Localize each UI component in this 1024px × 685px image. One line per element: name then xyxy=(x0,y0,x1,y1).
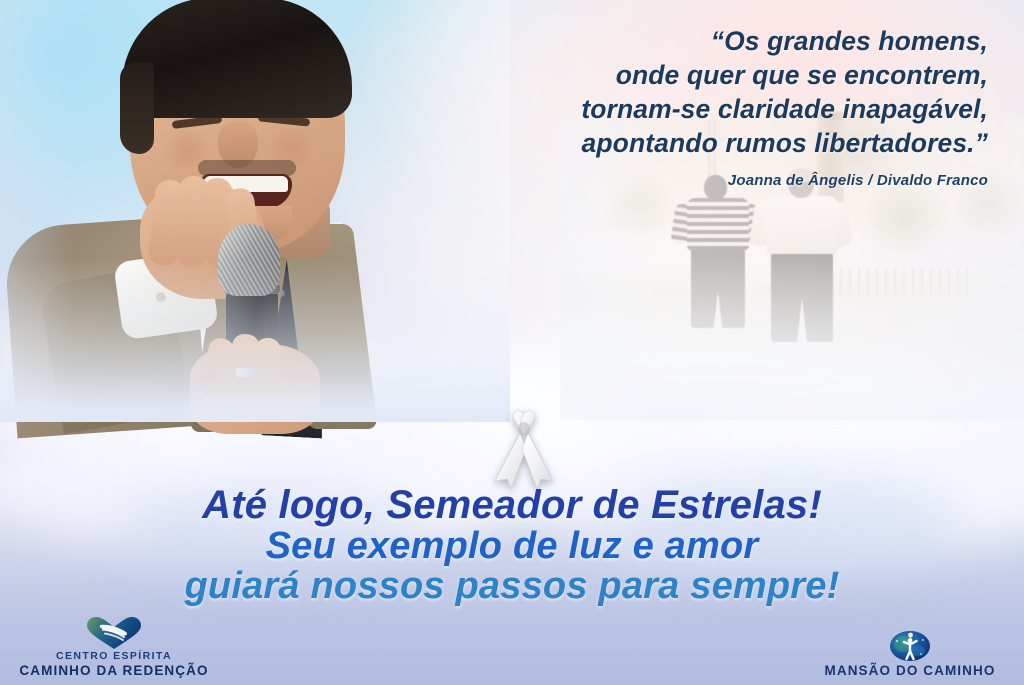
headline-line-3: guiará nossos passos para sempre! xyxy=(0,566,1024,606)
logo-centro-espirita-line-2: CAMINHO DA REDENÇÃO xyxy=(14,663,214,679)
quote-line-4: apontando rumos libertadores.” xyxy=(388,126,988,160)
quote-author: Joanna de Ângelis / Divaldo Franco xyxy=(388,172,988,189)
logo-centro-espirita[interactable]: CENTRO ESPÍRITA CAMINHO DA REDENÇÃO xyxy=(14,616,214,679)
quote-line-1: “Os grandes homens, xyxy=(388,24,988,58)
bg-photo-fade-overlay xyxy=(560,120,1024,420)
headline-line-1: Até logo, Semeador de Estrelas! xyxy=(0,484,1024,526)
tribute-poster: “Os grandes homens, onde quer que se enc… xyxy=(0,0,1024,685)
hair xyxy=(122,0,352,118)
quote-text: “Os grandes homens, onde quer que se enc… xyxy=(388,24,988,160)
headline-line-2: Seu exemplo de luz e amor xyxy=(0,526,1024,566)
logo-mansao-do-caminho[interactable]: MANSÃO DO CAMINHO xyxy=(810,629,1010,679)
headline-block: Até logo, Semeador de Estrelas! Seu exem… xyxy=(0,484,1024,606)
quote-line-2: onde quer que se encontrem, xyxy=(388,58,988,92)
heart-with-hand-icon xyxy=(14,616,214,650)
globe-with-figure-icon xyxy=(810,629,1010,663)
hair-sideburn xyxy=(120,62,154,154)
cuff-button xyxy=(156,292,166,302)
finger-ring xyxy=(236,368,258,377)
microphone-grille-texture xyxy=(218,224,280,296)
logo-mansao-do-caminho-line-1: MANSÃO DO CAMINHO xyxy=(810,663,1010,679)
finger xyxy=(254,337,284,401)
mourning-ribbon-icon xyxy=(487,409,561,491)
background-photo-plaza xyxy=(560,120,1024,420)
logo-centro-espirita-line-1: CENTRO ESPÍRITA xyxy=(14,650,214,663)
quote-line-3: tornam-se claridade inapagável, xyxy=(388,92,988,126)
